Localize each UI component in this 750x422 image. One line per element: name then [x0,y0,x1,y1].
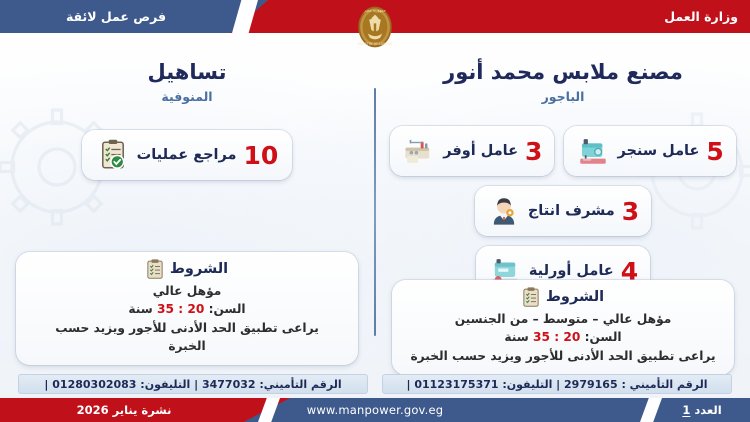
job-chip[interactable]: 3 مشرف انتاج [475,186,651,236]
job-count: 5 [706,139,723,164]
panel-right-title: مصنع ملابس محمد أنور [378,60,748,84]
clipboard-icon [522,287,540,307]
conditions-line: مؤهل عالي – متوسط – من الجنسين [406,310,720,328]
sewing-machine-icon [576,134,610,168]
conditions-box-right: الشروط مؤهل عالي – متوسط – من الجنسين ال… [392,280,734,375]
conditions-title: الشروط [170,261,228,277]
infographic-page: فرص عمل لائقة جمهورية مصر MINISTRY OF LA… [0,0,750,422]
overlock-machine-icon [402,134,436,168]
panel-left: تساهيل المنوفية 10 مراجع عمليات [2,44,372,364]
footer-issue-label: العدد [694,403,721,417]
conditions-line: يراعى تطبيق الحد الأدنى للأجور ويزيد حسب [30,319,344,337]
panel-right-job-list: 5 عامل سنجر 3 عامل أوفر [378,126,748,296]
panel-left-title: تساهيل [2,60,372,84]
job-label: عامل أوفر [443,143,518,159]
conditions-header: الشروط [30,259,344,279]
panel-right-subtitle: الباجور [378,89,748,104]
job-count: 3 [622,199,639,224]
job-label: مراجع عمليات [137,147,237,163]
clipboard-check-icon [96,138,130,172]
job-chip[interactable]: 3 عامل أوفر [390,126,554,176]
job-chip[interactable]: 5 عامل سنجر [564,126,735,176]
contact-bar-right[interactable]: الرقم التأميني : 2979165 | التليفون: 011… [382,374,732,394]
supervisor-icon [487,194,521,228]
panel-right: مصنع ملابس محمد أنور الباجور 5 عامل سنجر [378,44,748,364]
job-label: عامل أورلية [529,263,614,279]
job-count: 3 [525,139,542,164]
footer-bulletin-label: نشرة يناير 2026 [0,398,248,422]
center-divider [374,88,376,336]
conditions-header: الشروط [406,287,720,307]
contact-bar-left[interactable]: الرقم التأميني: 3477032 | التليفون: 0128… [18,374,368,394]
conditions-line: يراعى تطبيق الحد الأدنى للأجور ويزيد حسب… [406,347,720,365]
age-min: 20 [563,330,580,344]
job-label: مشرف انتاج [528,203,615,219]
top-bar-right-label: وزارة العمل [664,0,738,33]
conditions-line: مؤهل عالي [30,282,344,300]
clipboard-icon [146,259,164,279]
job-label: عامل سنجر [617,143,699,159]
age-max: 35 [157,302,174,316]
top-bar: فرص عمل لائقة جمهورية مصر MINISTRY OF LA… [0,0,750,33]
conditions-line: الخبرة [30,337,344,355]
svg-text:جمهورية مصر: جمهورية مصر [363,8,386,13]
top-bar-left-label: فرص عمل لائقة [0,0,232,33]
panel-left-subtitle: المنوفية [2,89,372,104]
conditions-line-age: السن: 20 : 35 سنة [406,328,720,346]
age-max: 35 [533,330,550,344]
age-min: 20 [187,302,204,316]
conditions-title: الشروط [546,289,604,305]
panel-left-job-list: 10 مراجع عمليات [2,130,372,180]
conditions-box-left: الشروط مؤهل عالي السن: 20 : 35 سنة ي [16,252,358,365]
footer-issue-number: 1 [682,403,690,417]
job-count: 10 [244,143,279,168]
conditions-line-age: السن: 20 : 35 سنة [30,300,344,318]
job-chip[interactable]: 10 مراجع عمليات [82,130,293,180]
footer-issue: العدد 1 [654,398,750,422]
